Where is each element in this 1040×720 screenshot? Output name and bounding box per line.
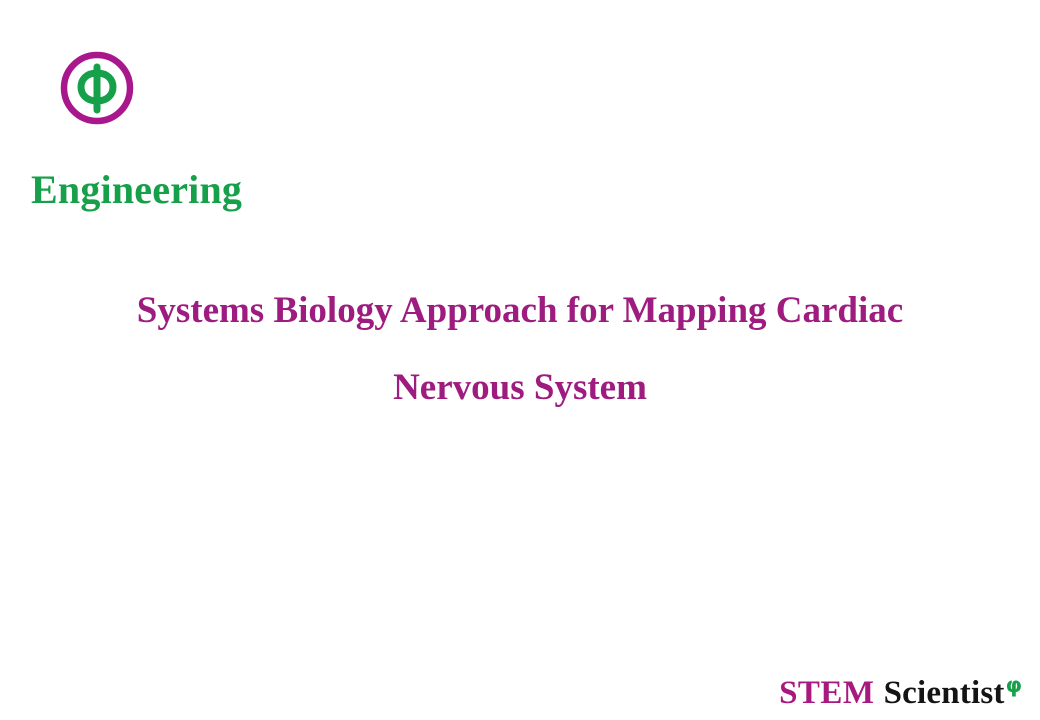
phi-circle-logo	[60, 50, 138, 130]
brand-phi-superscript-icon: φ	[1006, 675, 1022, 696]
logo-phi-glyph	[81, 67, 113, 110]
title-line-1: Systems Biology Approach for Mapping Car…	[0, 272, 1040, 349]
title-line-2: Nervous System	[0, 349, 1040, 426]
footer-brand: STEM Scientist φ	[779, 674, 1022, 712]
brand-name-stem: STEM	[779, 674, 875, 712]
page-title: Systems Biology Approach for Mapping Car…	[0, 272, 1040, 426]
category-label: Engineering	[31, 166, 242, 214]
brand-name-scientist: Scientist	[884, 674, 1005, 712]
